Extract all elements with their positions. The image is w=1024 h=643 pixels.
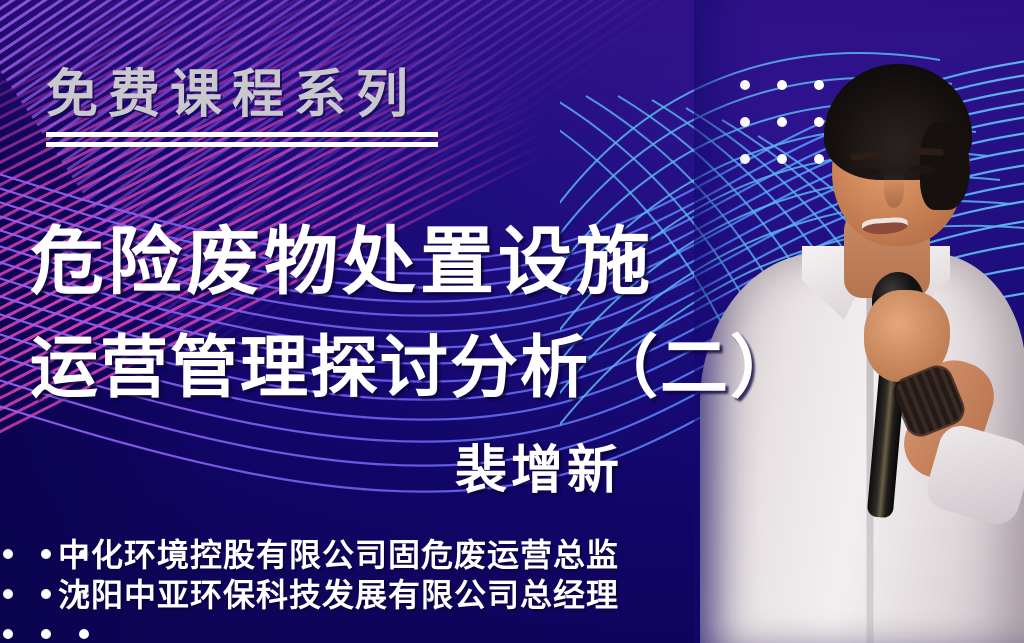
divider-rule-bottom <box>46 142 438 147</box>
course-poster: 免费课程系列 危险废物处置设施 运营管理探讨分析（二） 裴增新 中化环境控股有限… <box>0 0 1024 643</box>
speaker-credit-2: 沈阳中亚环保科技发展有限公司总经理 <box>58 570 619 616</box>
divider-rule-top <box>46 132 438 137</box>
poster-title-line-1: 危险废物处置设施 <box>30 202 654 309</box>
poster-title-line-2: 运营管理探讨分析（二） <box>30 312 800 411</box>
series-label: 免费课程系列 <box>46 52 418 127</box>
speaker-name: 裴增新 <box>455 428 623 503</box>
